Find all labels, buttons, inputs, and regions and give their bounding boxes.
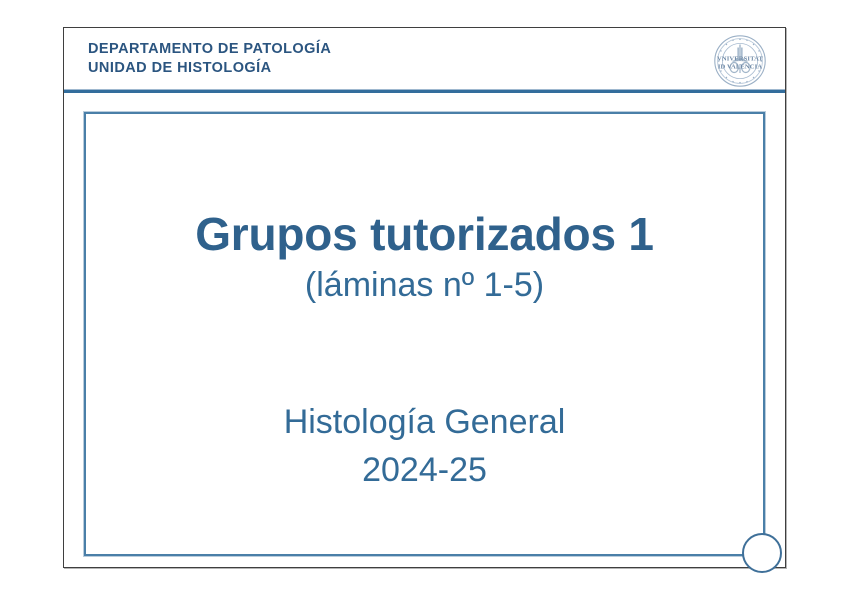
page-title: Grupos tutorizados 1 bbox=[86, 210, 763, 259]
svg-text:VNIVERSITAT: VNIVERSITAT bbox=[717, 56, 763, 63]
header-unit-line: UNIDAD DE HISTOLOGÍA bbox=[88, 59, 331, 78]
page-subtitle: (láminas nº 1-5) bbox=[86, 265, 763, 306]
title-block: Grupos tutorizados 1 (láminas nº 1-5) bbox=[86, 210, 763, 306]
slide-canvas: DEPARTAMENTO DE PATOLOGÍA UNIDAD DE HIST… bbox=[63, 27, 786, 568]
content-frame: Grupos tutorizados 1 (láminas nº 1-5) Hi… bbox=[84, 112, 765, 556]
slide-header: DEPARTAMENTO DE PATOLOGÍA UNIDAD DE HIST… bbox=[64, 28, 785, 92]
header-department-line: DEPARTAMENTO DE PATOLOGÍA bbox=[88, 40, 331, 59]
header-title-block: DEPARTAMENTO DE PATOLOGÍA UNIDAD DE HIST… bbox=[88, 40, 331, 78]
academic-year: 2024-25 bbox=[86, 447, 763, 495]
universitat-de-valencia-seal-icon: VNIVERSITAT ID VALENCIA bbox=[713, 34, 767, 88]
course-name: Histología General bbox=[86, 399, 763, 447]
svg-text:ID VALENCIA: ID VALENCIA bbox=[718, 64, 762, 71]
header-divider-rule bbox=[64, 89, 785, 93]
course-block: Histología General 2024-25 bbox=[86, 399, 763, 494]
header-rule-main bbox=[64, 90, 785, 93]
corner-circle-decoration bbox=[742, 533, 782, 573]
